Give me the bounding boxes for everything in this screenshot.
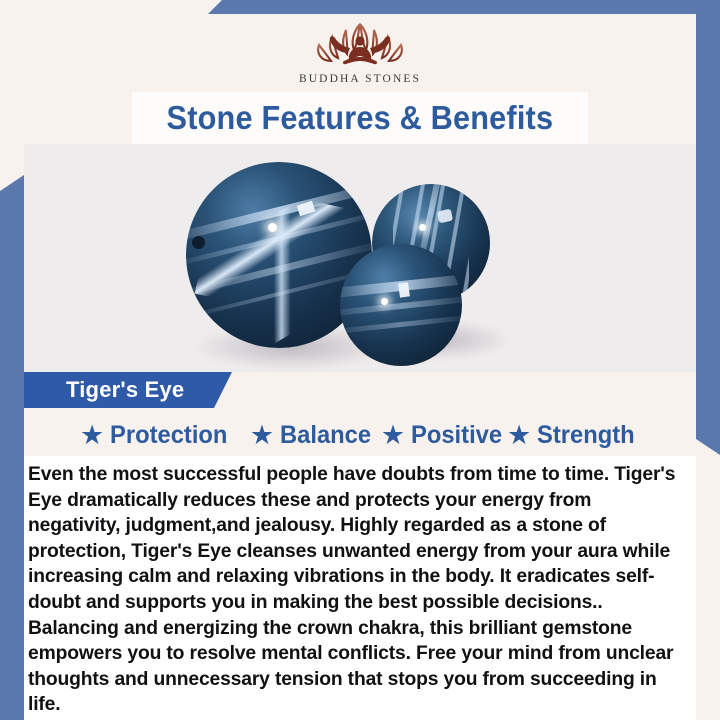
stone-name: Tiger's Eye xyxy=(66,377,184,403)
page-title: Stone Features & Benefits xyxy=(167,99,554,137)
top-accent-bar xyxy=(208,0,720,14)
description-panel: Even the most successful people have dou… xyxy=(24,456,696,720)
benefit-item-positive: ★ Positive xyxy=(381,421,507,450)
benefit-item-protection: ★ Protection xyxy=(80,421,234,450)
stone-name-banner: Tiger's Eye xyxy=(24,372,232,408)
star-icon: ★ xyxy=(250,422,274,449)
brand-name: BUDDHA STONES xyxy=(299,73,421,85)
infographic-page: BUDDHA STONES Stone Features & Benefits xyxy=(0,0,720,720)
description-text: Even the most successful people have dou… xyxy=(28,462,688,718)
stone-photo xyxy=(24,144,696,372)
benefit-label: Positive xyxy=(411,421,502,450)
benefit-item-strength: ★ Strength xyxy=(507,421,640,450)
benefit-label: Strength xyxy=(537,421,635,450)
benefit-label: Balance xyxy=(280,421,371,450)
left-accent-bar xyxy=(0,175,24,720)
benefit-label: Protection xyxy=(110,421,227,450)
benefit-item-balance: ★ Balance xyxy=(250,421,376,450)
brand-logo: BUDDHA STONES xyxy=(0,14,720,90)
star-icon: ★ xyxy=(80,422,104,449)
stone-sphere-small xyxy=(340,244,462,366)
star-icon: ★ xyxy=(507,422,531,449)
benefits-row: ★ Protection ★ Balance ★ Positive ★ Stre… xyxy=(24,414,696,456)
lotus-meditation-icon xyxy=(294,14,426,72)
title-panel: Stone Features & Benefits xyxy=(132,92,588,144)
star-icon: ★ xyxy=(381,422,405,449)
